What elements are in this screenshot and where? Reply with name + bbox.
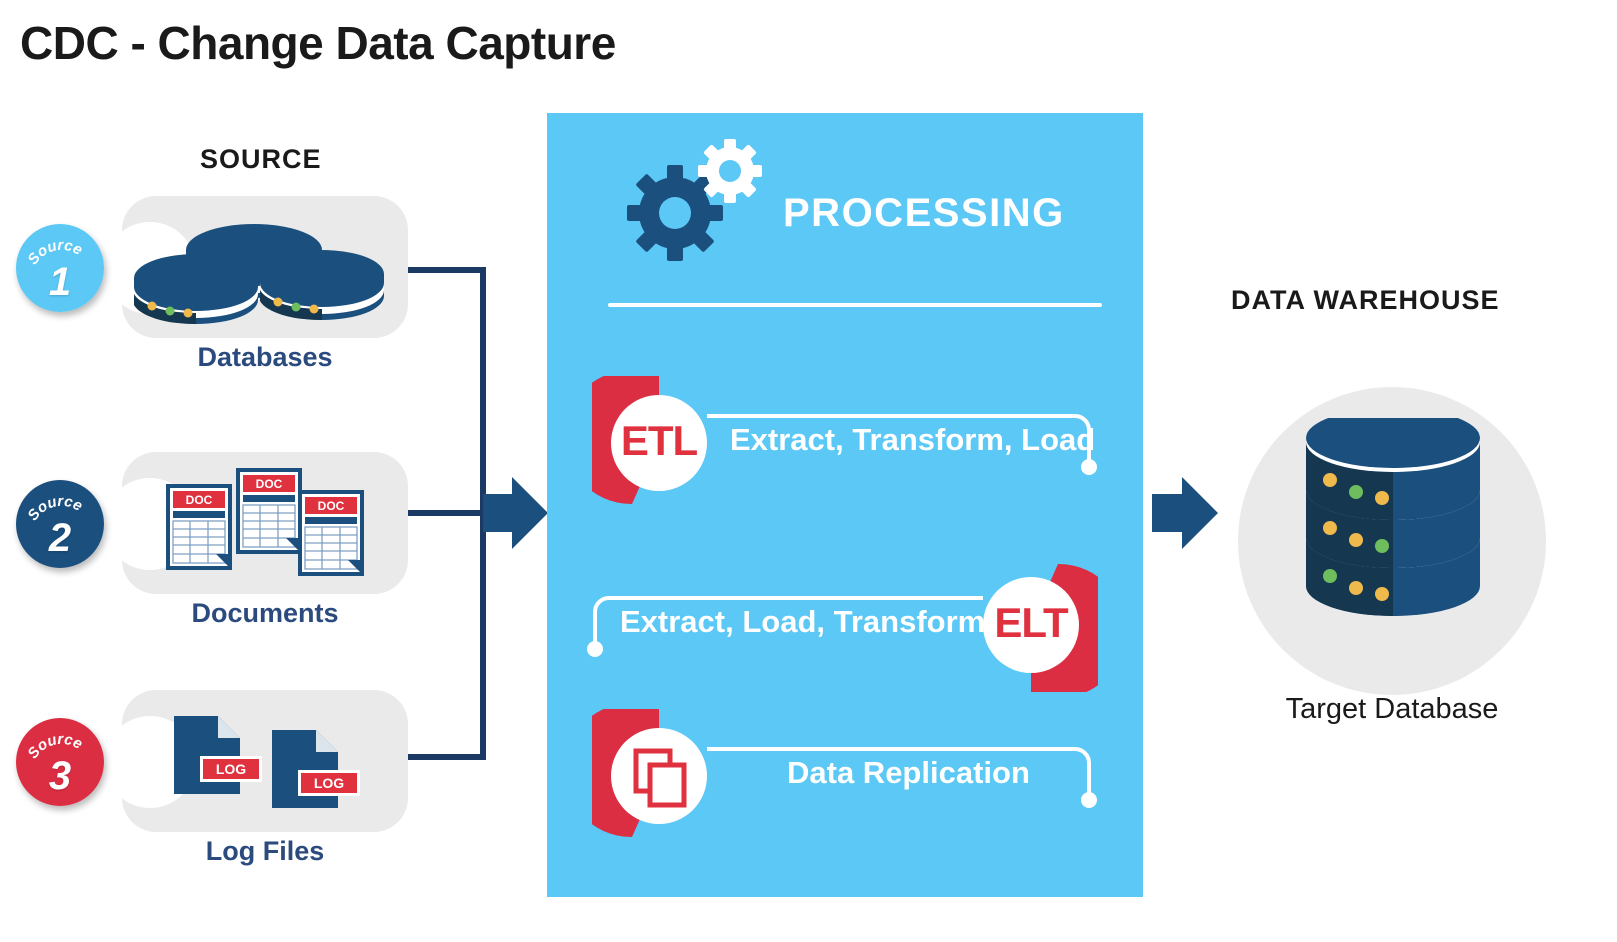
elt-label: Extract, Load, Transform bbox=[620, 604, 985, 640]
source-label-documents: Documents bbox=[122, 598, 408, 629]
page-title: CDC - Change Data Capture bbox=[20, 16, 616, 70]
source-column-header: SOURCE bbox=[200, 144, 322, 175]
target-database-label: Target Database bbox=[1238, 693, 1546, 726]
processing-panel: PROCESSING ETL Extract, Transform, Load bbox=[547, 113, 1143, 897]
etl-label: Extract, Transform, Load bbox=[730, 422, 1095, 458]
svg-text:LOG: LOG bbox=[216, 761, 246, 777]
source-badge-2[interactable]: Source 2 bbox=[16, 480, 104, 568]
method-row-etl[interactable]: ETL Extract, Transform, Load bbox=[547, 368, 1143, 518]
data-replication-label: Data Replication bbox=[787, 755, 1030, 791]
log-files-icon: LOG LOG bbox=[168, 712, 368, 816]
method-row-elt[interactable]: ELT Extract, Load, Transform bbox=[547, 550, 1143, 700]
method-row-data-replication[interactable]: Data Replication bbox=[547, 701, 1143, 851]
source-group-databases[interactable]: Source 1 Databases bbox=[8, 196, 408, 356]
source-badge-number-1: 1 bbox=[16, 262, 104, 302]
source-group-documents[interactable]: DOC DOC bbox=[8, 452, 408, 612]
source-badge-3[interactable]: Source 3 bbox=[16, 718, 104, 806]
arrow-processing-to-warehouse bbox=[1152, 477, 1218, 549]
source-group-log-files[interactable]: LOG LOG Source 3 Log Files bbox=[8, 690, 408, 850]
svg-text:DOC: DOC bbox=[186, 493, 213, 507]
processing-divider bbox=[608, 303, 1102, 307]
arrow-source-to-processing bbox=[483, 477, 548, 549]
source-label-databases: Databases bbox=[122, 342, 408, 373]
data-replication-badge-icon[interactable] bbox=[592, 709, 726, 843]
gears-icon bbox=[625, 139, 773, 263]
target-database-icon bbox=[1298, 418, 1488, 628]
databases-icon bbox=[126, 210, 396, 330]
diagram-canvas: CDC - Change Data Capture SOURCE DATA WA… bbox=[0, 0, 1617, 942]
svg-text:LOG: LOG bbox=[314, 775, 344, 791]
source-badge-number-2: 2 bbox=[16, 518, 104, 558]
source-badge-number-3: 3 bbox=[16, 756, 104, 796]
processing-title: PROCESSING bbox=[783, 191, 1065, 236]
source-label-log-files: Log Files bbox=[122, 836, 408, 867]
svg-text:DOC: DOC bbox=[318, 499, 345, 513]
documents-icon: DOC DOC bbox=[160, 466, 370, 578]
etl-badge-label: ETL bbox=[592, 420, 726, 462]
source-badge-1[interactable]: Source 1 bbox=[16, 224, 104, 312]
svg-text:DOC: DOC bbox=[256, 477, 283, 491]
etl-badge-icon[interactable]: ETL bbox=[592, 376, 726, 510]
data-warehouse-column-header: DATA WAREHOUSE bbox=[1231, 285, 1500, 316]
